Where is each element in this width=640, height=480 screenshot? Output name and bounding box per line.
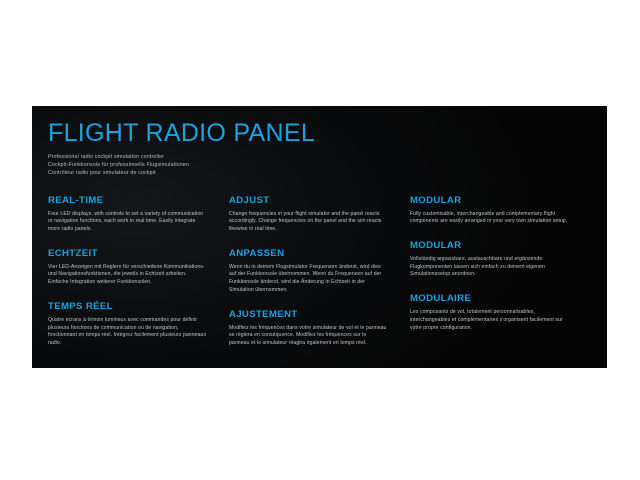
feature-heading: REAL-TIME xyxy=(48,195,207,207)
feature-body: Vier LED-Anzeigen mit Reglern für versch… xyxy=(48,264,207,287)
feature-body: Modifiez les fréquences dans votre simul… xyxy=(229,325,388,348)
feature-heading: MODULAR xyxy=(410,195,569,207)
feature-heading: ECHTZEIT xyxy=(48,248,207,260)
feature-body: Les composants de vol, totalement person… xyxy=(410,309,569,332)
feature-block-realtime-en: REAL-TIME Four LED displays, with contro… xyxy=(48,195,207,234)
panel-content: FLIGHT RADIO PANEL Professional radio co… xyxy=(32,106,607,368)
feature-block-realtime-fr: TEMPS RÉEL Quatre écrans à témoin lumine… xyxy=(48,301,207,348)
feature-body: Four LED displays, with controls to set … xyxy=(48,211,207,234)
feature-body: Fully customisable, interchangeable and … xyxy=(410,211,569,226)
feature-heading: ANPASSEN xyxy=(229,248,388,260)
product-info-panel: FLIGHT RADIO PANEL Professional radio co… xyxy=(32,106,607,368)
feature-body: Wenn du in deinem Flugsimulator Frequenz… xyxy=(229,264,388,295)
feature-block-adjust-en: ADJUST Change frequencies in your flight… xyxy=(229,195,388,234)
feature-heading: MODULAR xyxy=(410,240,569,252)
feature-block-adjust-fr: AJUSTEMENT Modifiez les fréquences dans … xyxy=(229,309,388,348)
feature-heading: AJUSTEMENT xyxy=(229,309,388,321)
subtitle-group: Professional radio cockpit simulation co… xyxy=(48,153,591,178)
feature-block-modular-de: MODULAR Vollständig anpassbare, austausc… xyxy=(410,240,569,279)
page-title: FLIGHT RADIO PANEL xyxy=(48,120,591,147)
feature-heading: TEMPS RÉEL xyxy=(48,301,207,313)
feature-block-modular-fr: MODULAIRE Les composants de vol, totalem… xyxy=(410,293,569,332)
feature-body: Vollständig anpassbare, austauschbare un… xyxy=(410,256,569,279)
feature-column-1: REAL-TIME Four LED displays, with contro… xyxy=(48,195,229,348)
feature-column-2: ADJUST Change frequencies in your flight… xyxy=(229,195,410,348)
page-canvas: FLIGHT RADIO PANEL Professional radio co… xyxy=(0,0,640,480)
feature-body: Quatre écrans à témoin lumineux avec com… xyxy=(48,317,207,348)
feature-column-3: MODULAR Fully customisable, interchangea… xyxy=(410,195,591,348)
feature-body: Change frequencies in your flight simula… xyxy=(229,211,388,234)
feature-block-modular-en: MODULAR Fully customisable, interchangea… xyxy=(410,195,569,226)
feature-columns: REAL-TIME Four LED displays, with contro… xyxy=(48,195,591,348)
feature-heading: ADJUST xyxy=(229,195,388,207)
subtitle-line-de: Cockpit-Funkkonsole für professionelle F… xyxy=(48,161,591,169)
subtitle-line-en: Professional radio cockpit simulation co… xyxy=(48,153,591,161)
feature-block-realtime-de: ECHTZEIT Vier LED-Anzeigen mit Reglern f… xyxy=(48,248,207,287)
feature-block-adjust-de: ANPASSEN Wenn du in deinem Flugsimulator… xyxy=(229,248,388,295)
feature-heading: MODULAIRE xyxy=(410,293,569,305)
subtitle-line-fr: Contrôleur radio pour simulateur de cock… xyxy=(48,169,591,177)
